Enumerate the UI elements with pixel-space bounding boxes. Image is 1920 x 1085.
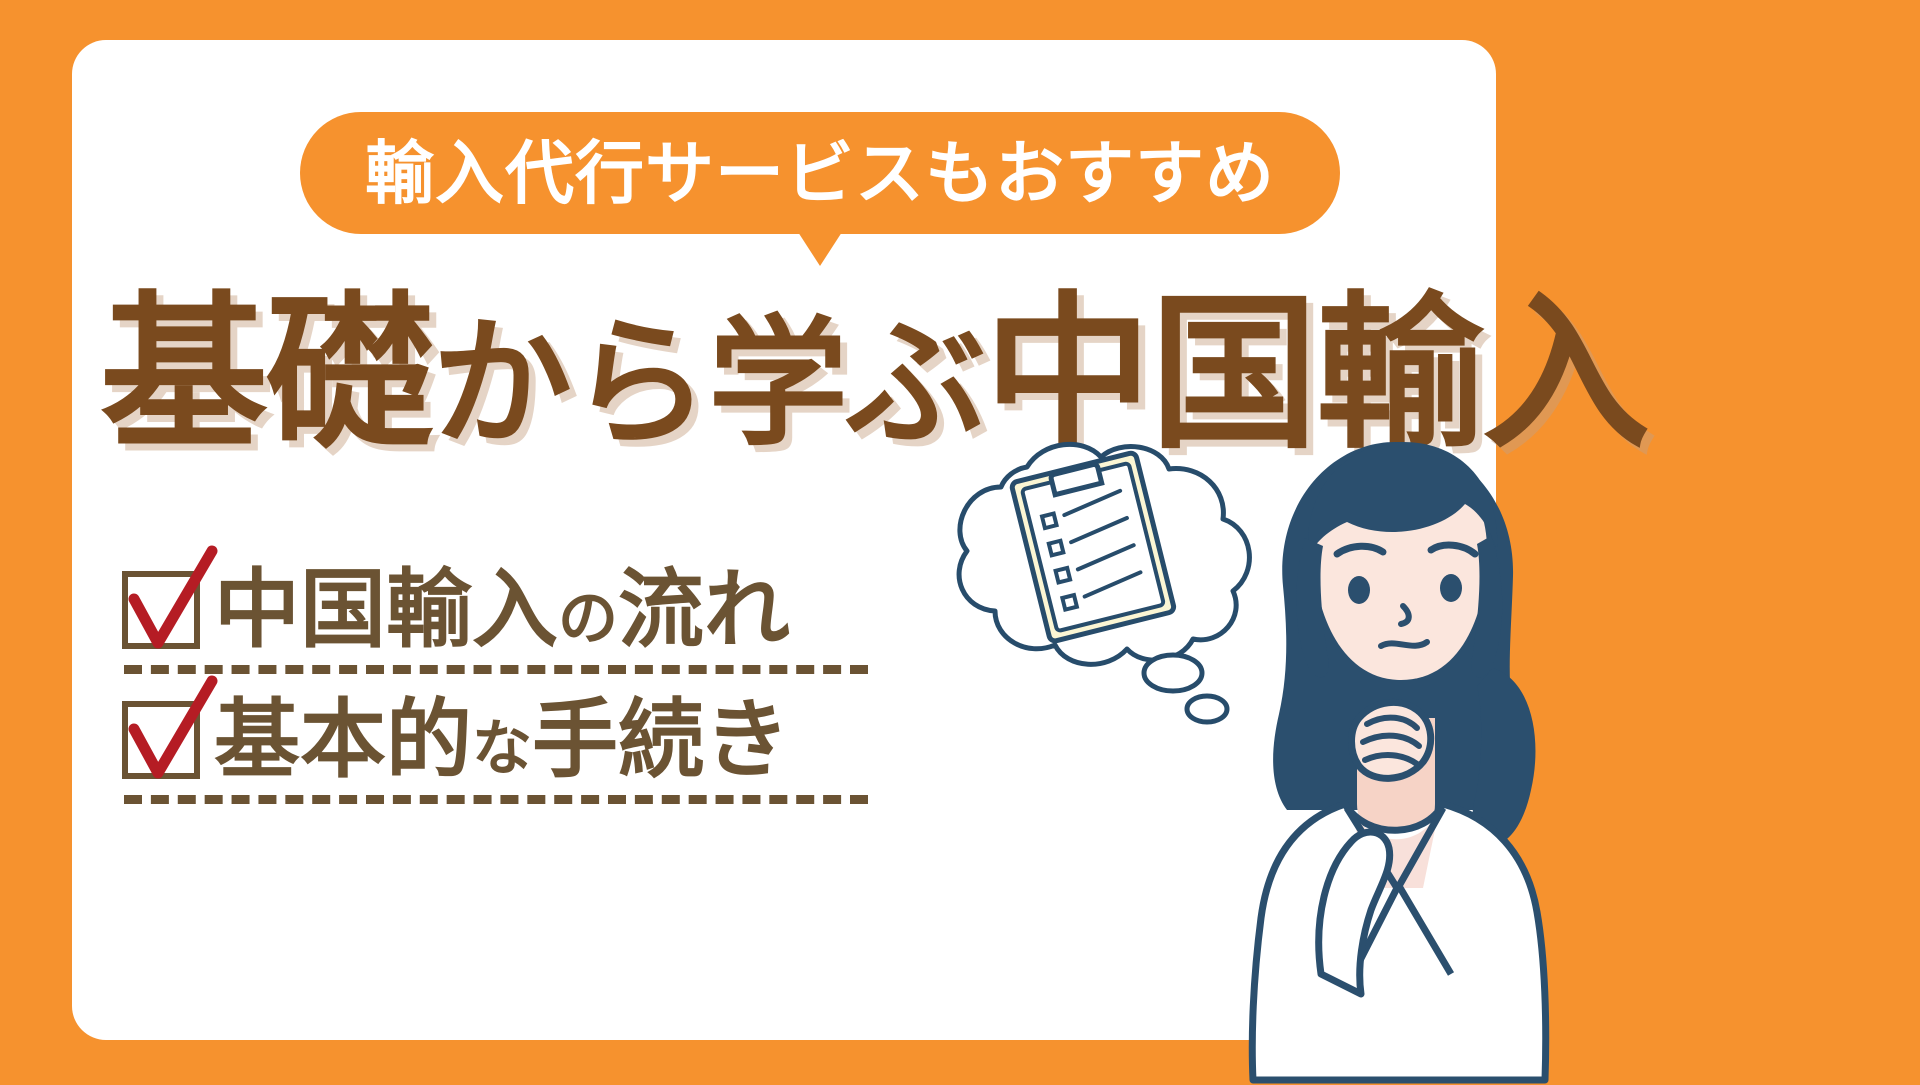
list-item-particle: の [558,585,618,652]
banner-pill: 輸入代行サービスもおすすめ [300,112,1340,234]
woman-thinking-icon [1225,418,1555,1080]
list-item: 中国輸入の流れ [122,560,882,672]
list-item-main: 中国輸入 [214,562,558,658]
list-item-particle: な [472,715,532,782]
list-item-tail: 手続き [532,692,790,788]
list-item-text: 基本的な手続き [214,697,790,783]
banner-label: 輸入代行サービスもおすすめ [365,139,1275,208]
callout-banner: 輸入代行サービスもおすすめ [300,112,1340,252]
checkbox-checked-icon [122,701,200,779]
list-item-tail: 流れ [618,562,790,658]
list-item-underline [124,795,868,804]
checkbox-checked-icon [122,571,200,649]
list-item: 基本的な手続き [122,690,882,802]
title-segment-2: から学ぶ [432,305,984,462]
poster-root: 輸入代行サービスもおすすめ 基礎から学ぶ中国輸入 中国輸入の流れ [0,0,1920,1080]
title-segment-1: 基礎 [100,280,432,468]
list-item-underline [124,665,868,674]
list-item-main: 基本的 [214,692,472,788]
thought-bubble-icon [915,425,1275,715]
list-item-text: 中国輸入の流れ [214,567,790,653]
banner-tail-icon [798,232,842,266]
feature-checklist: 中国輸入の流れ 基本的な手続き [122,560,882,820]
